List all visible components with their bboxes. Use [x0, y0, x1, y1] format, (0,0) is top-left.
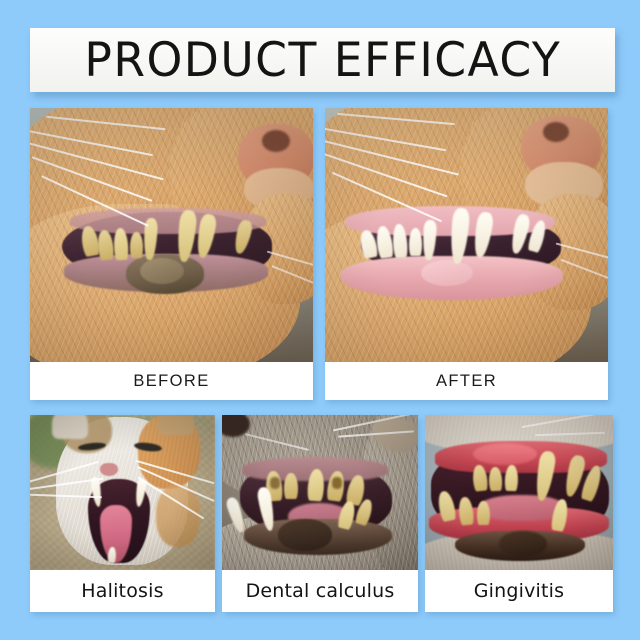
symptom-caption-gingivitis: Gingivitis — [425, 570, 613, 612]
symptom-card-dental-calculus: Dental calculus — [222, 415, 418, 612]
symptom-caption-dental-calculus: Dental calculus — [222, 570, 418, 612]
before-card: BEFORE — [30, 108, 313, 400]
gingivitis-photo — [425, 415, 613, 570]
after-caption: AFTER — [325, 362, 608, 400]
symptom-card-halitosis: Halitosis — [30, 415, 215, 612]
symptom-caption-halitosis: Halitosis — [30, 570, 215, 612]
infographic-root: PRODUCT EFFICACY — [0, 0, 640, 640]
after-photo — [325, 108, 608, 362]
title-banner: PRODUCT EFFICACY — [30, 28, 615, 92]
symptom-card-gingivitis: Gingivitis — [425, 415, 613, 612]
dental-calculus-photo — [222, 415, 418, 570]
page-title: PRODUCT EFFICACY — [84, 37, 561, 84]
before-photo — [30, 108, 313, 362]
halitosis-photo — [30, 415, 215, 570]
after-card: AFTER — [325, 108, 608, 400]
before-caption: BEFORE — [30, 362, 313, 400]
